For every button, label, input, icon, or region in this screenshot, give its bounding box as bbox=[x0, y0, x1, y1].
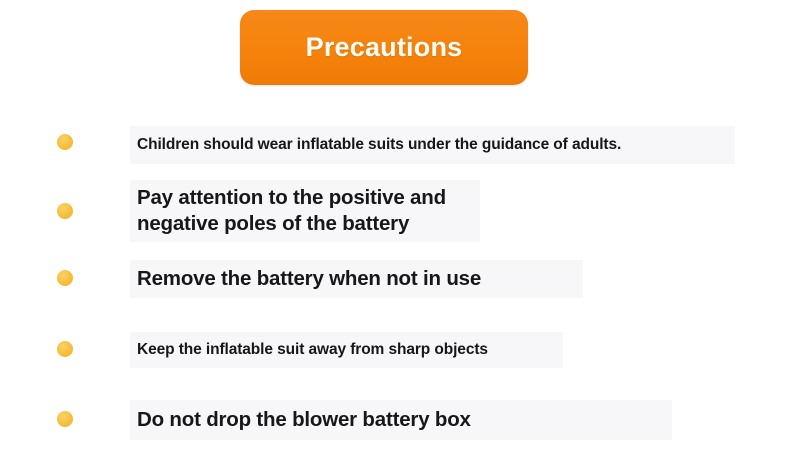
bullet-item-label: Pay attention to the positive and negati… bbox=[137, 185, 446, 237]
bullet-text-box: Children should wear inflatable suits un… bbox=[130, 126, 735, 164]
bullet-text-box: Do not drop the blower battery box bbox=[130, 400, 672, 440]
bullet-item-label: Do not drop the blower battery box bbox=[137, 407, 471, 433]
precautions-slide: Precautions Children should wear inflata… bbox=[0, 0, 790, 464]
bullet-text-box: Remove the battery when not in use bbox=[130, 260, 583, 298]
bullet-item-label: Remove the battery when not in use bbox=[137, 266, 481, 292]
bullet-text-box: Keep the inflatable suit away from sharp… bbox=[130, 332, 563, 368]
bullet-dot-icon bbox=[57, 203, 73, 219]
page-title: Precautions bbox=[306, 34, 463, 61]
bullet-dot-icon bbox=[57, 270, 73, 286]
title-banner: Precautions bbox=[240, 10, 528, 85]
bullet-text-box: Pay attention to the positive and negati… bbox=[130, 180, 480, 242]
bullet-dot-icon bbox=[57, 341, 73, 357]
bullet-item-label: Children should wear inflatable suits un… bbox=[137, 135, 621, 155]
bullet-dot-icon bbox=[57, 411, 73, 427]
bullet-item-label: Keep the inflatable suit away from sharp… bbox=[137, 340, 488, 360]
bullet-dot-icon bbox=[57, 134, 73, 150]
